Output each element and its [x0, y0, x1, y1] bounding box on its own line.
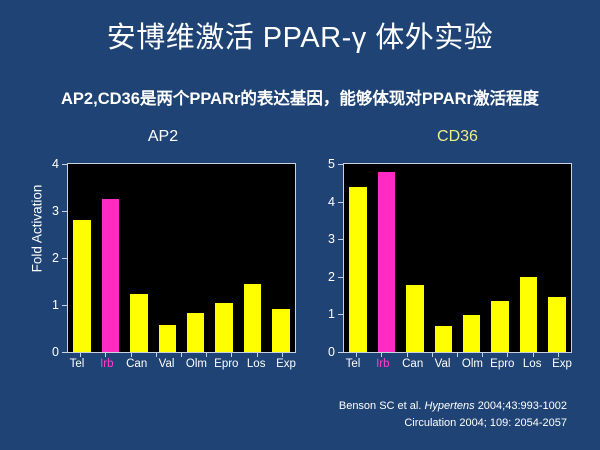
chart-title: CD36 — [325, 128, 590, 146]
y-axis-tick: 0 — [328, 345, 344, 359]
x-tick-mark — [558, 352, 559, 357]
bar-irb — [102, 199, 120, 352]
bar-can — [406, 285, 424, 352]
bar-val — [435, 326, 453, 352]
x-tick-mark — [482, 352, 483, 357]
bar-olm — [187, 313, 205, 352]
bar-slot — [68, 164, 96, 352]
x-tick-mark — [80, 352, 81, 357]
bar-series — [68, 164, 295, 352]
plot-area: TelIrbCanValOlmEproLosExp 012345 — [343, 163, 572, 353]
plot-area: TelIrbCanValOlmEproLosExp 01234 — [67, 163, 296, 353]
chart-title: AP2 — [18, 128, 308, 146]
x-tick-mark — [257, 352, 258, 357]
page-subtitle: AP2,CD36是两个PPARr的表达基因，能够体现对PPARr激活程度 — [0, 85, 600, 109]
x-axis-label-can: Can — [398, 358, 428, 370]
x-axis-label-tel: Tel — [338, 358, 368, 370]
bar-slot — [458, 164, 486, 352]
bar-slot — [125, 164, 153, 352]
bar-slot — [210, 164, 238, 352]
page-title: 安博维激活 PPAR-γ 体外实验 — [0, 14, 600, 56]
bar-slot — [486, 164, 514, 352]
x-tick-mark — [457, 352, 458, 357]
x-tick-marks — [68, 352, 295, 357]
bar-tel — [349, 187, 367, 352]
charts-container: AP2 Fold Activation TelIrbCanValOlmEproL… — [0, 125, 600, 385]
bar-can — [130, 294, 148, 352]
bar-slot — [401, 164, 429, 352]
bar-slot — [153, 164, 181, 352]
x-axis-label-val: Val — [428, 358, 458, 370]
x-tick-mark — [131, 352, 132, 357]
x-axis-label-tel: Tel — [62, 358, 92, 370]
y-axis-tick: 3 — [328, 232, 344, 246]
bar-olm — [463, 315, 481, 352]
bar-epro — [491, 301, 509, 353]
x-axis-label-olm: Olm — [182, 358, 212, 370]
bar-slot — [238, 164, 266, 352]
citation-reference: 2004;43:993-1002 — [478, 400, 567, 412]
x-axis: TelIrbCanValOlmEproLosExp — [344, 352, 571, 374]
x-axis-label-irb: Irb — [368, 358, 398, 370]
bar-slot — [344, 164, 372, 352]
x-axis: TelIrbCanValOlmEproLosExp — [68, 352, 295, 374]
chart-cd36: CD36 TelIrbCanValOlmEproLosExp 012345 — [325, 125, 590, 385]
bar-slot — [267, 164, 295, 352]
x-tick-mark — [507, 352, 508, 357]
bar-slot — [182, 164, 210, 352]
bar-slot — [514, 164, 542, 352]
y-axis-tick: 1 — [52, 298, 68, 312]
x-axis-labels: TelIrbCanValOlmEproLosExp — [338, 358, 577, 370]
bar-slot — [372, 164, 400, 352]
x-axis-label-exp: Exp — [271, 358, 301, 370]
y-axis-tick: 1 — [328, 307, 344, 321]
bar-los — [520, 277, 538, 352]
bar-slot — [96, 164, 124, 352]
x-axis-label-epro: Epro — [211, 358, 241, 370]
y-axis-tick: 4 — [52, 157, 68, 171]
citation-line-2: Circulation 2004; 109: 2054-2057 — [339, 415, 567, 432]
bar-tel — [73, 220, 91, 352]
bar-slot — [429, 164, 457, 352]
x-tick-mark — [282, 352, 283, 357]
x-axis-label-olm: Olm — [458, 358, 488, 370]
x-axis-label-can: Can — [122, 358, 152, 370]
x-tick-mark — [206, 352, 207, 357]
x-axis-label-los: Los — [517, 358, 547, 370]
x-axis-label-los: Los — [241, 358, 271, 370]
x-tick-mark — [533, 352, 534, 357]
x-axis-label-epro: Epro — [487, 358, 517, 370]
x-axis-label-val: Val — [152, 358, 182, 370]
x-tick-marks — [344, 352, 571, 357]
y-axis-tick: 3 — [52, 204, 68, 218]
chart-ap2: AP2 Fold Activation TelIrbCanValOlmEproL… — [18, 125, 308, 385]
y-axis-tick: 2 — [328, 270, 344, 284]
citation: Benson SC et al. Hypertens 2004;43:993-1… — [339, 398, 567, 432]
y-axis-tick: 5 — [328, 157, 344, 171]
x-tick-mark — [381, 352, 382, 357]
x-tick-mark — [432, 352, 433, 357]
bar-series — [344, 164, 571, 352]
x-tick-mark — [156, 352, 157, 357]
bar-los — [244, 284, 262, 352]
bar-exp — [272, 309, 290, 352]
y-axis-tick: 0 — [52, 345, 68, 359]
bar-val — [159, 325, 177, 352]
bar-irb — [378, 172, 396, 352]
citation-line-1: Benson SC et al. Hypertens 2004;43:993-1… — [339, 398, 567, 415]
bar-slot — [543, 164, 571, 352]
bar-exp — [548, 297, 566, 352]
x-tick-mark — [181, 352, 182, 357]
x-tick-mark — [407, 352, 408, 357]
y-axis-tick: 2 — [52, 251, 68, 265]
x-axis-label-exp: Exp — [547, 358, 577, 370]
y-axis-tick: 4 — [328, 195, 344, 209]
x-tick-mark — [356, 352, 357, 357]
citation-authors: Benson SC et al. — [339, 400, 422, 412]
y-axis-label: Fold Activation — [30, 164, 45, 294]
x-axis-label-irb: Irb — [92, 358, 122, 370]
x-axis-labels: TelIrbCanValOlmEproLosExp — [62, 358, 301, 370]
x-tick-mark — [231, 352, 232, 357]
bar-epro — [215, 303, 233, 352]
citation-journal: Hypertens — [424, 400, 474, 412]
x-tick-mark — [105, 352, 106, 357]
